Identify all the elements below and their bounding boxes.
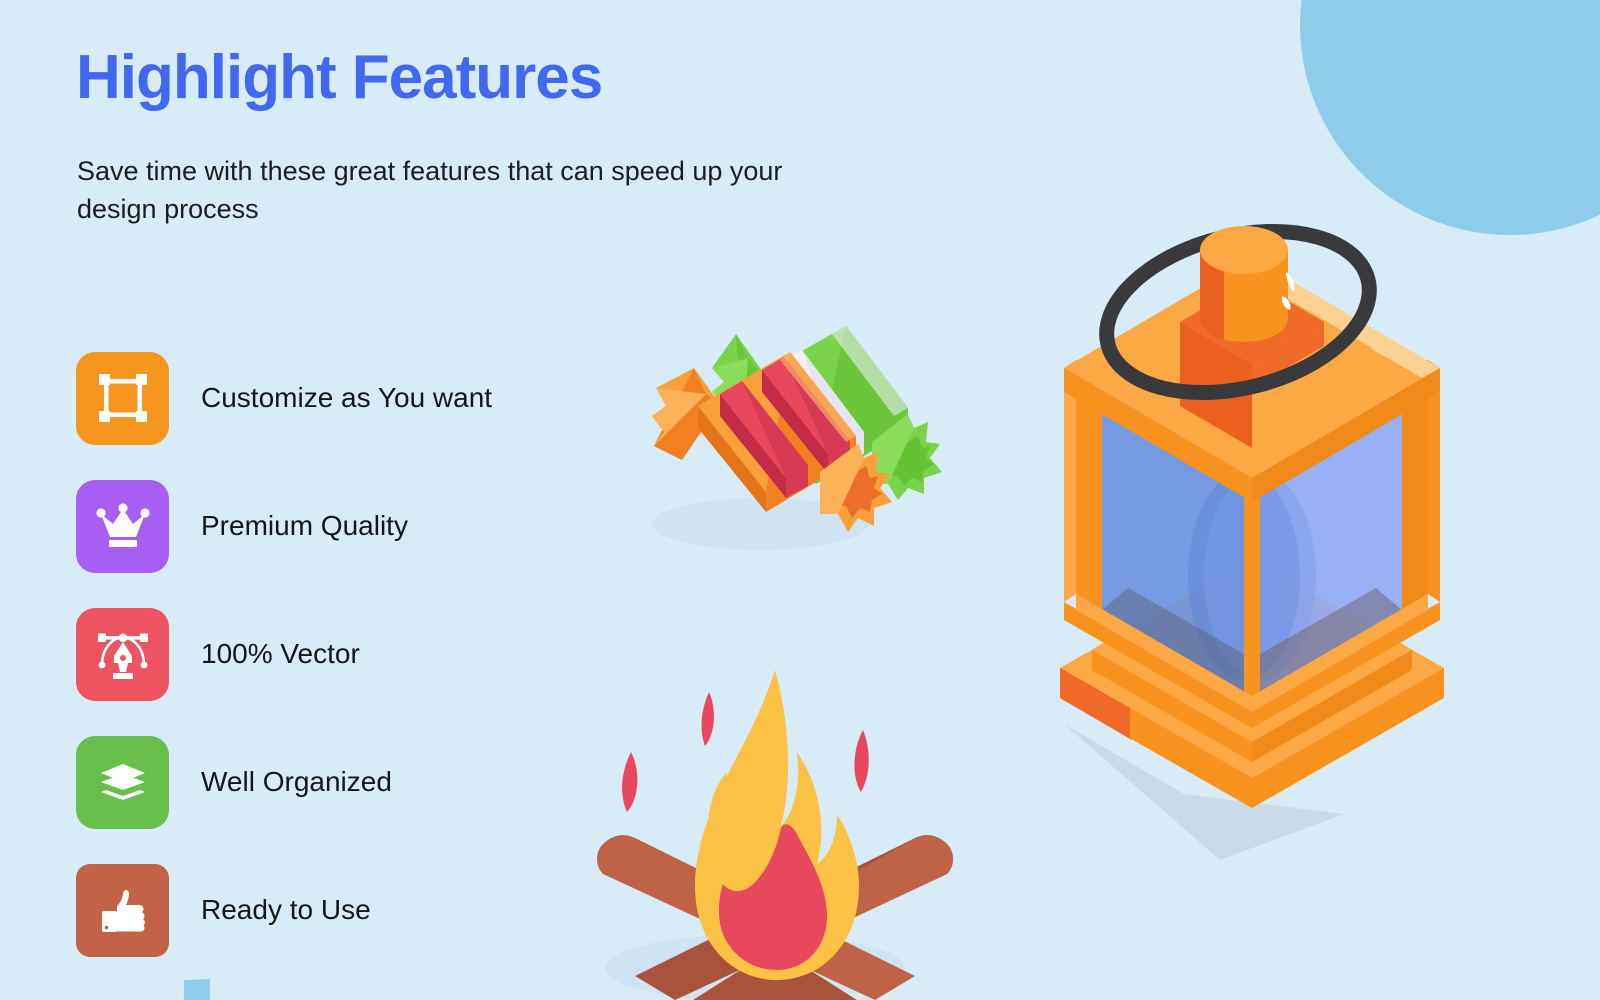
poster-canvas: Highlight Features Save time with these … <box>0 0 1600 1000</box>
lantern-knob <box>1200 226 1295 342</box>
lantern-illustration <box>952 196 1552 881</box>
feature-label: Ready to Use <box>201 894 371 926</box>
pen-tool-icon <box>76 608 169 701</box>
transform-box-icon <box>76 352 169 445</box>
spark <box>702 692 714 746</box>
spark <box>622 752 637 812</box>
feature-item[interactable]: Customize as You want <box>76 334 696 462</box>
candy-illustration <box>620 296 960 581</box>
layers-icon <box>76 736 169 829</box>
feature-label: Customize as You want <box>201 382 492 414</box>
feature-label: Well Organized <box>201 766 392 798</box>
feature-label: 100% Vector <box>201 638 360 670</box>
spark <box>854 730 868 792</box>
feature-label: Premium Quality <box>201 510 408 542</box>
thumbs-up-icon <box>76 864 169 957</box>
campfire-illustration <box>575 648 975 1000</box>
crown-icon <box>76 480 169 573</box>
page-title: Highlight Features <box>76 47 602 109</box>
feature-item[interactable]: Premium Quality <box>76 462 696 590</box>
page-subtitle: Save time with these great features that… <box>77 152 797 229</box>
